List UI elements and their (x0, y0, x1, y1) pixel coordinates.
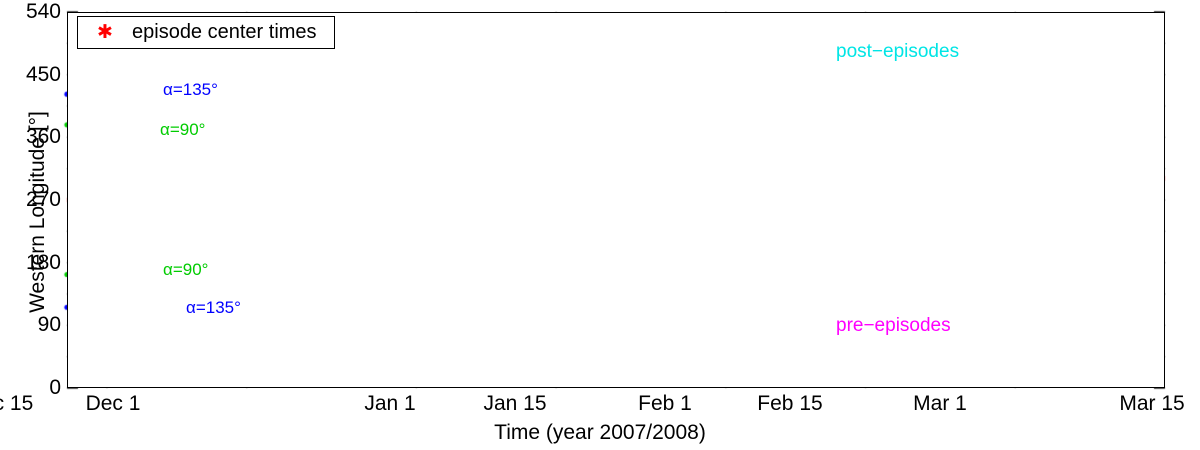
plot-axes-frame (67, 12, 1165, 388)
ytick-label-540: 540 (26, 0, 61, 24)
x-axis-label: Time (year 2007/2008) (0, 421, 1200, 445)
alpha-90-lower-label: α=90° (163, 260, 208, 280)
post-episodes-label: post−episodes (836, 41, 959, 63)
ytick-label-0: 0 (49, 376, 61, 400)
alpha-135-lower-label: α=135° (186, 298, 241, 318)
xtick-label-feb-1: Feb 1 (638, 392, 692, 416)
legend-box: ✱ episode center times (77, 16, 335, 49)
legend-asterisk-icon: ✱ (78, 23, 132, 42)
legend-label: episode center times (132, 21, 317, 44)
xtick-label-mar-15: Mar 15 (1119, 392, 1184, 416)
pre-episodes-label: pre−episodes (836, 315, 951, 337)
xtick-label-jan-15: Jan 15 (483, 392, 546, 416)
y-axis-label: Western Longitude [°] (26, 82, 50, 342)
xtick-label-jan-1: Jan 1 (364, 392, 415, 416)
xtick-label-mar-1: Mar 1 (913, 392, 967, 416)
alpha-135-upper-label: α=135° (163, 80, 218, 100)
xtick-label-feb-15: Feb 15 (757, 392, 822, 416)
alpha-90-upper-label: α=90° (160, 120, 205, 140)
xtick-label-dec-1: Dec 1 (86, 392, 141, 416)
xtick-label-dec-15: Dec 15 (0, 392, 33, 416)
figure-root: 0 90 180 270 360 450 540 Dec 1 Dec 15 Ja… (0, 0, 1200, 450)
